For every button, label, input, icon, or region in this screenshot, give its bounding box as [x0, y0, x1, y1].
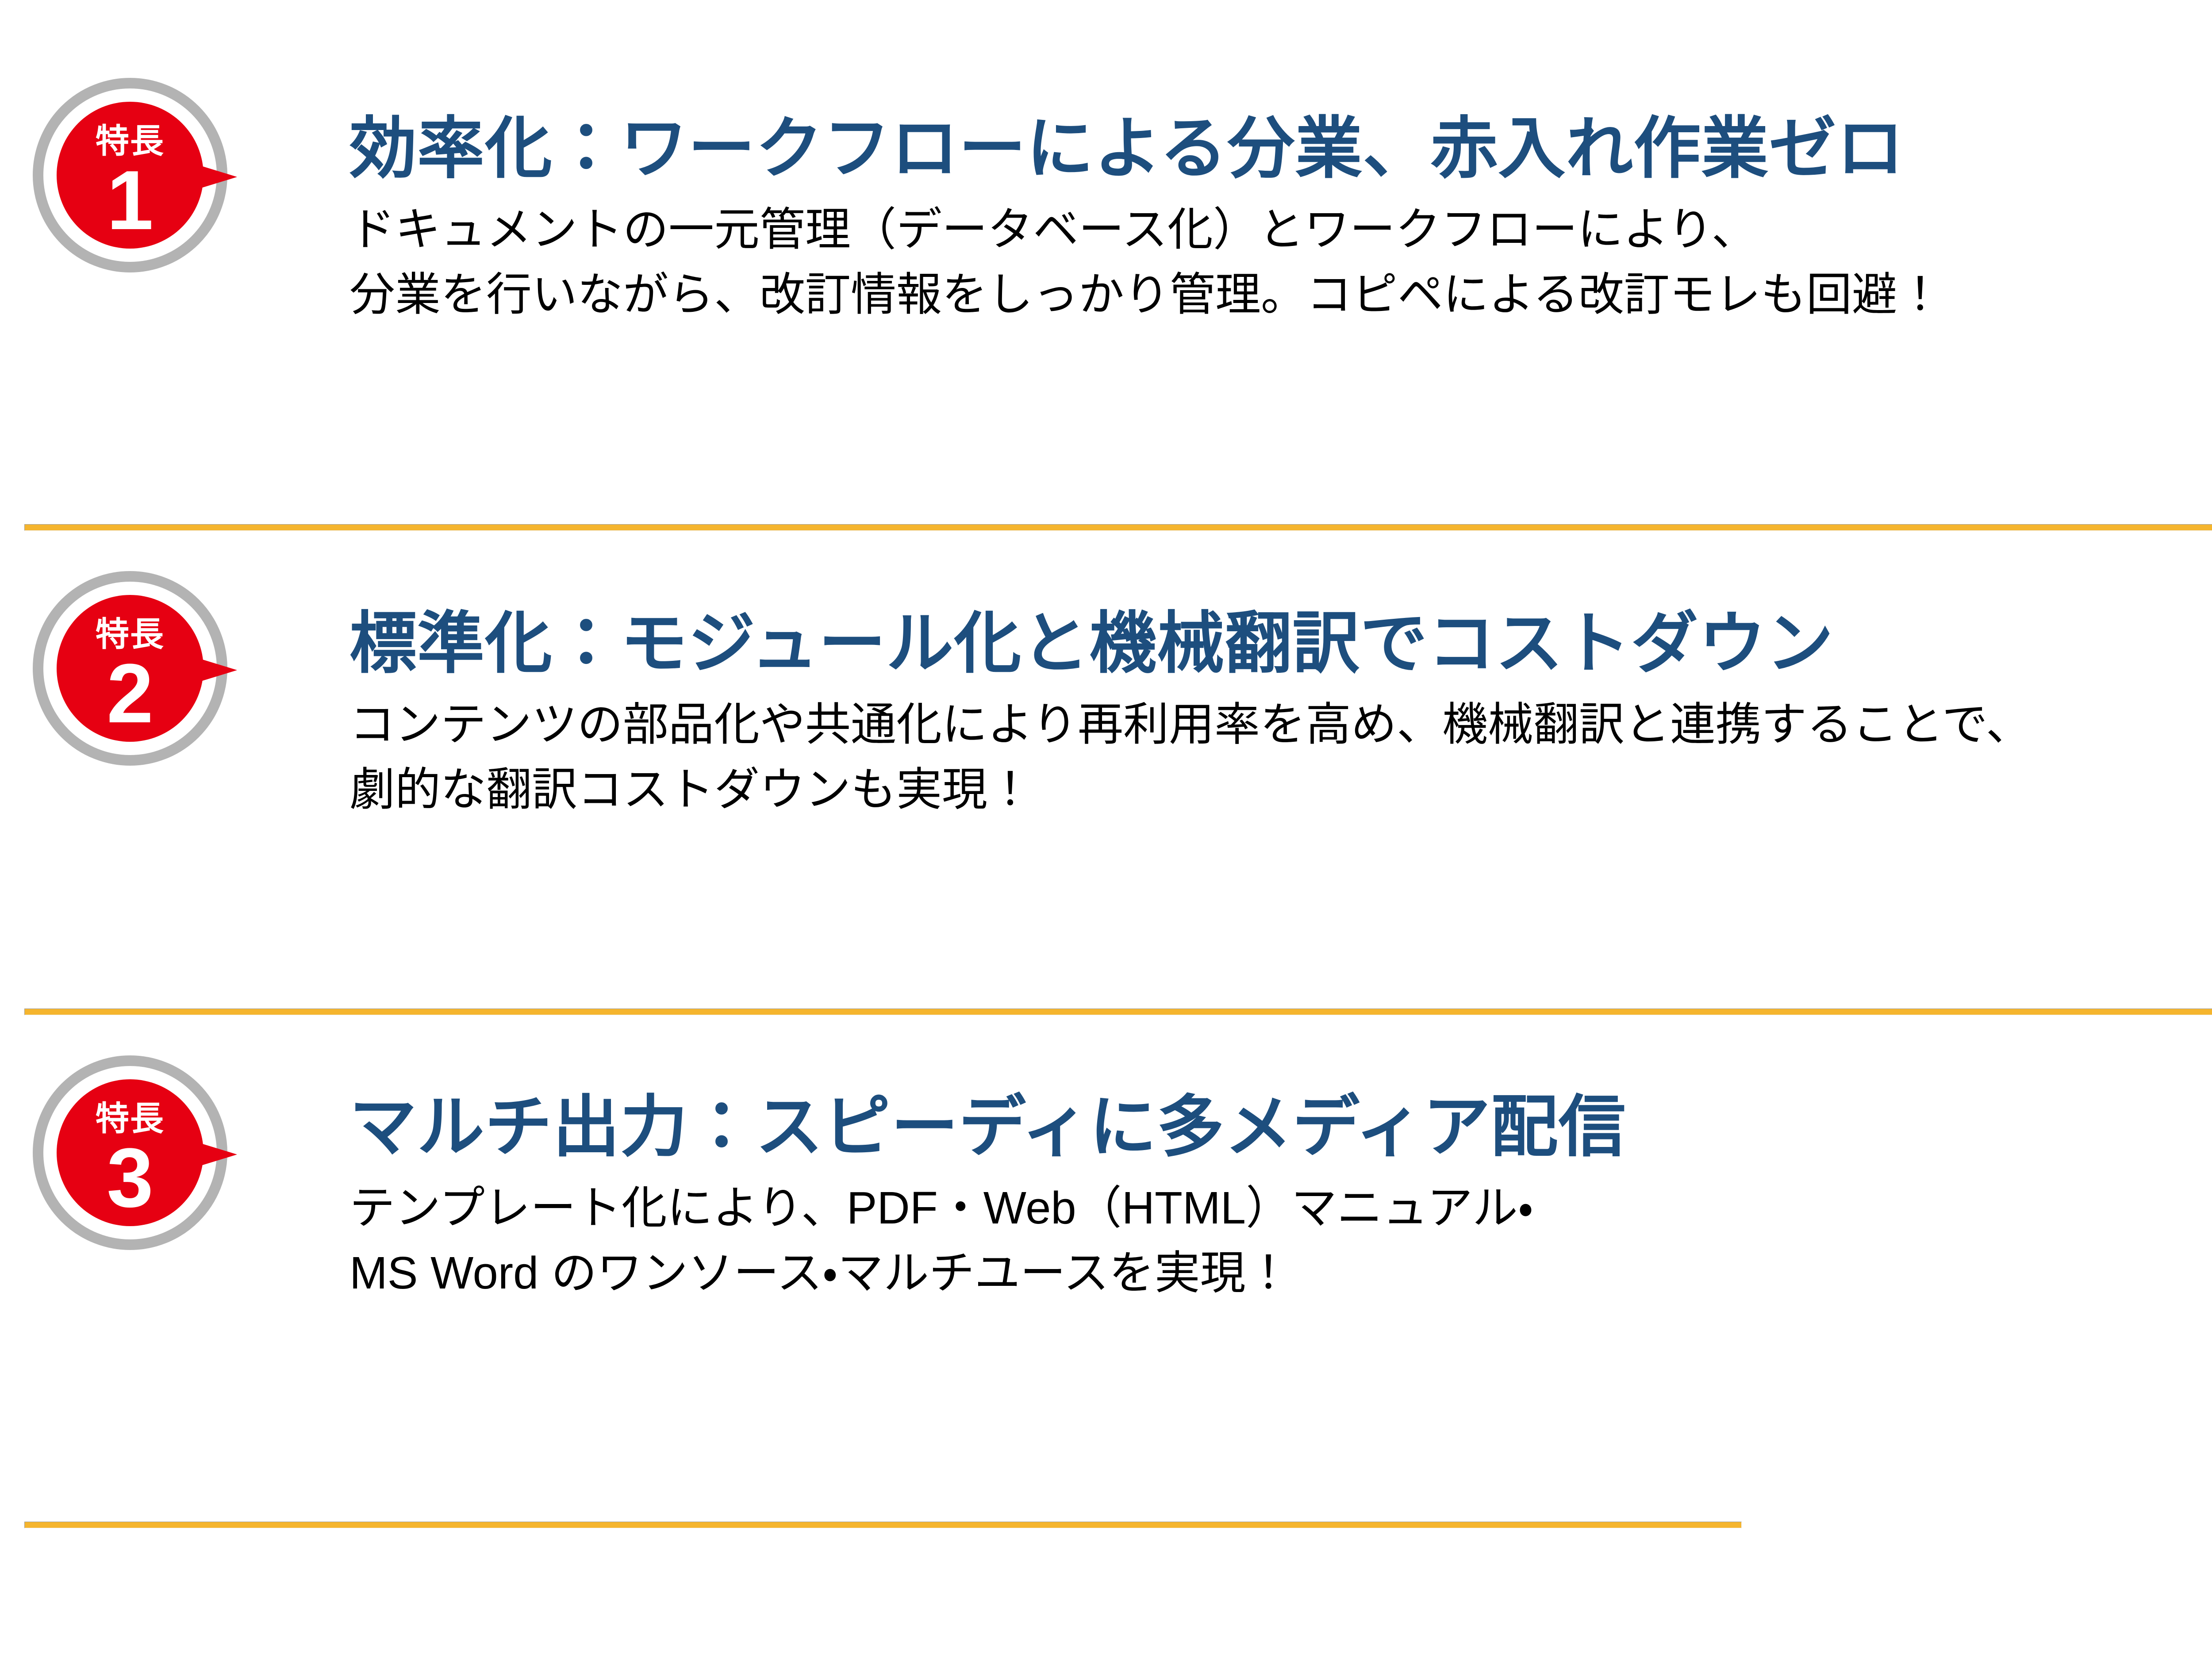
feature-body-2: コンテンツの部品化や共通化により再利用率を高め、機械翻訳と連携することで、 劇的…: [349, 692, 2212, 822]
feature-badge-2: 特長 2: [27, 567, 257, 788]
feature-body-line: 分業を行いながら、改訂情報をしっかり管理。コピペによる改訂モレも回避！: [349, 262, 2212, 327]
feature-badge-1: 特長 1: [27, 73, 257, 295]
feature-body-line: コンテンツの部品化や共通化により再利用率を高め、機械翻訳と連携することで、: [349, 692, 2212, 757]
feature-body-line: ドキュメントの一元管理（データベース化）とワークフローにより、: [349, 197, 2212, 262]
badge-speech-bubble: 特長 1: [57, 102, 204, 249]
badge-speech-bubble: 特長 2: [57, 595, 204, 742]
badge-number: 2: [57, 652, 204, 736]
section-divider-3: [24, 1522, 1742, 1528]
feature-heading-3: マルチ出力：スピーディに多メディア配信: [349, 1088, 2212, 1166]
feature-text-3: マルチ出力：スピーディに多メディア配信 テンプレート化により、PDF・Web（H…: [349, 1088, 2212, 1305]
feature-body-line: MS Word のワンソース・マルチユースを実現！: [349, 1241, 2212, 1305]
badge-speech-bubble: 特長 3: [57, 1079, 204, 1226]
badge-number: 3: [57, 1136, 204, 1220]
feature-heading-2: 標準化：モジュール化と機械翻訳でコストダウン: [349, 605, 2212, 683]
feature-block-3: 特長 3 マルチ出力：スピーディに多メディア配信 テンプレート化により、PDF・…: [0, 1039, 2212, 1491]
feature-text-2: 標準化：モジュール化と機械翻訳でコストダウン コンテンツの部品化や共通化により再…: [349, 605, 2212, 822]
badge-number: 1: [57, 158, 204, 242]
feature-body-line: 劇的な翻訳コストダウンも実現！: [349, 757, 2212, 822]
feature-block-1: 特長 1 効率化：ワークフローによる分業、赤入れ作業ゼロ ドキュメントの一元管理…: [0, 62, 2212, 509]
feature-badge-3: 特長 3: [27, 1051, 257, 1272]
feature-body-line: テンプレート化により、PDF・Web（HTML）マニュアル・: [349, 1176, 2212, 1240]
section-divider-2: [24, 1009, 2212, 1015]
feature-block-2: 特長 2 標準化：モジュール化と機械翻訳でコストダウン コンテンツの部品化や共通…: [0, 555, 2212, 993]
feature-body-3: テンプレート化により、PDF・Web（HTML）マニュアル・ MS Word の…: [349, 1176, 2212, 1305]
section-divider-1: [24, 524, 2212, 531]
feature-text-1: 効率化：ワークフローによる分業、赤入れ作業ゼロ ドキュメントの一元管理（データベ…: [349, 110, 2212, 327]
feature-heading-1: 効率化：ワークフローによる分業、赤入れ作業ゼロ: [349, 110, 2212, 188]
feature-body-1: ドキュメントの一元管理（データベース化）とワークフローにより、 分業を行いながら…: [349, 197, 2212, 327]
